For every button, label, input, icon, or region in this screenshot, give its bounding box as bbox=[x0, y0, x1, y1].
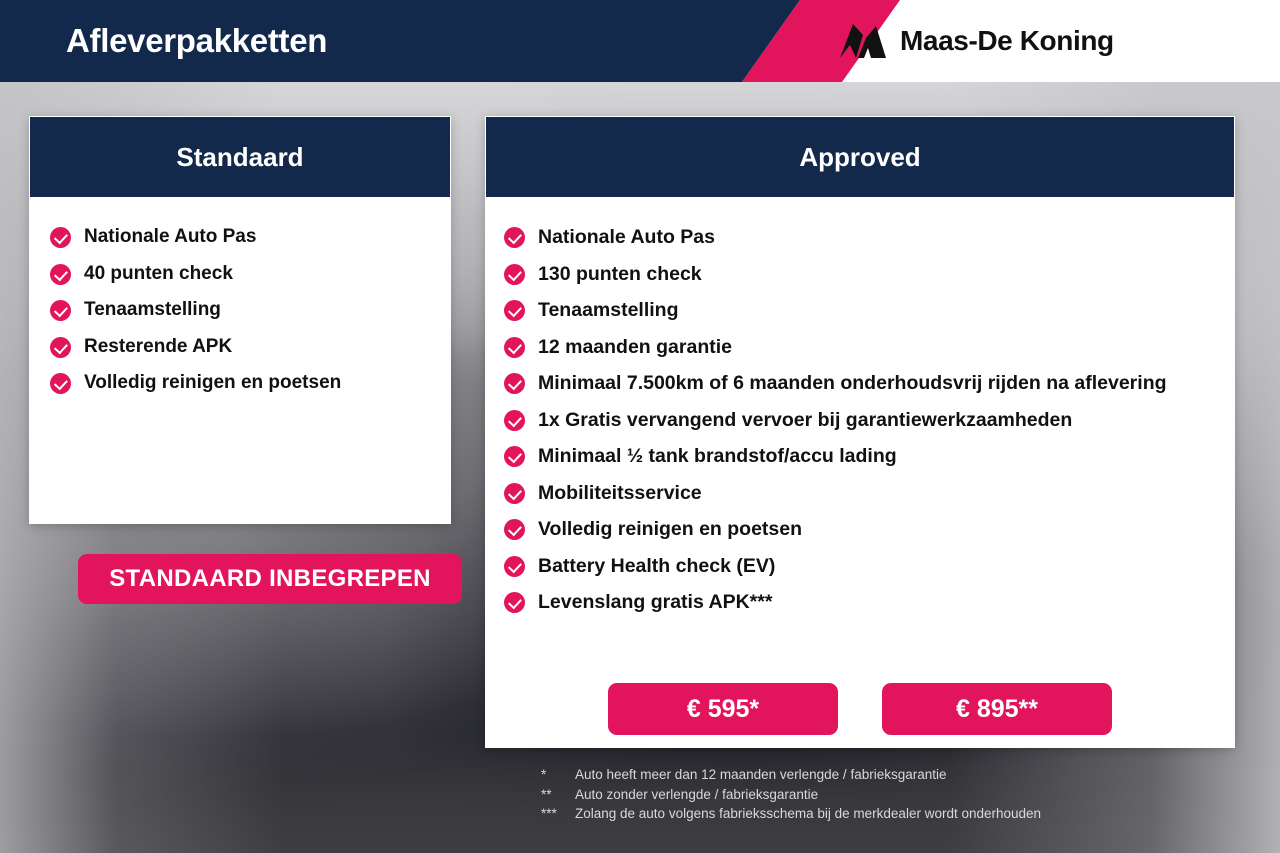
card-title-approved: Approved bbox=[486, 117, 1234, 197]
feature-item: Mobiliteitsservice bbox=[504, 475, 1216, 512]
feature-list-approved: Nationale Auto Pas130 punten checkTenaam… bbox=[504, 219, 1216, 621]
feature-label: Resterende APK bbox=[84, 329, 232, 366]
feature-item: Battery Health check (EV) bbox=[504, 548, 1216, 585]
feature-label: Mobiliteitsservice bbox=[538, 475, 702, 512]
footnote-marker: *** bbox=[541, 804, 575, 824]
check-circle-icon bbox=[50, 264, 71, 285]
page-header: Afleverpakketten Maas-De Koning bbox=[0, 0, 1280, 82]
check-circle-icon bbox=[504, 483, 525, 504]
check-circle-icon bbox=[504, 337, 525, 358]
price-button[interactable]: € 895** bbox=[882, 683, 1112, 735]
feature-item: 1x Gratis vervangend vervoer bij garanti… bbox=[504, 402, 1216, 439]
card-body-approved: Nationale Auto Pas130 punten checkTenaam… bbox=[486, 197, 1234, 621]
footnote-marker: ** bbox=[541, 785, 575, 805]
feature-item: Resterende APK bbox=[50, 329, 430, 366]
card-title-standaard: Standaard bbox=[30, 117, 450, 197]
footnote: **Auto zonder verlengde / fabrieksgarant… bbox=[541, 785, 1241, 805]
feature-item: Volledig reinigen en poetsen bbox=[50, 365, 430, 402]
feature-item: Levenslang gratis APK*** bbox=[504, 584, 1216, 621]
feature-label: Tenaamstelling bbox=[538, 292, 679, 329]
feature-label: 1x Gratis vervangend vervoer bij garanti… bbox=[538, 402, 1072, 439]
feature-item: 12 maanden garantie bbox=[504, 329, 1216, 366]
check-circle-icon bbox=[504, 446, 525, 467]
feature-label: 40 punten check bbox=[84, 256, 233, 293]
brand-logo: Maas-De Koning bbox=[840, 0, 1114, 82]
footnote-marker: * bbox=[541, 765, 575, 785]
feature-item: Tenaamstelling bbox=[504, 292, 1216, 329]
feature-item: Nationale Auto Pas bbox=[50, 219, 430, 256]
feature-label: Tenaamstelling bbox=[84, 292, 221, 329]
feature-label: Minimaal 7.500km of 6 maanden onderhouds… bbox=[538, 365, 1167, 402]
footnote-list: *Auto heeft meer dan 12 maanden verlengd… bbox=[541, 765, 1241, 824]
feature-list-standaard: Nationale Auto Pas40 punten checkTenaams… bbox=[50, 219, 430, 402]
check-circle-icon bbox=[504, 373, 525, 394]
feature-label: Nationale Auto Pas bbox=[538, 219, 715, 256]
footnote: *Auto heeft meer dan 12 maanden verlengd… bbox=[541, 765, 1241, 785]
feature-item: Minimaal 7.500km of 6 maanden onderhouds… bbox=[504, 365, 1216, 402]
price-button-row: € 595*€ 895** bbox=[504, 683, 1216, 735]
feature-label: 12 maanden garantie bbox=[538, 329, 732, 366]
feature-label: Levenslang gratis APK*** bbox=[538, 584, 772, 621]
check-circle-icon bbox=[50, 373, 71, 394]
maas-de-koning-m-logo-icon bbox=[840, 24, 886, 58]
feature-item: Minimaal ½ tank brandstof/accu lading bbox=[504, 438, 1216, 475]
check-circle-icon bbox=[504, 556, 525, 577]
footnote-text: Auto heeft meer dan 12 maanden verlengde… bbox=[575, 765, 1241, 785]
page-title: Afleverpakketten bbox=[66, 0, 327, 82]
feature-item: Nationale Auto Pas bbox=[504, 219, 1216, 256]
feature-label: 130 punten check bbox=[538, 256, 702, 293]
check-circle-icon bbox=[504, 519, 525, 540]
footnote: ***Zolang de auto volgens fabrieksschema… bbox=[541, 804, 1241, 824]
feature-item: 40 punten check bbox=[50, 256, 430, 293]
feature-label: Volledig reinigen en poetsen bbox=[538, 511, 802, 548]
check-circle-icon bbox=[50, 300, 71, 321]
check-circle-icon bbox=[504, 227, 525, 248]
feature-item: 130 punten check bbox=[504, 256, 1216, 293]
check-circle-icon bbox=[504, 410, 525, 431]
card-body-standaard: Nationale Auto Pas40 punten checkTenaams… bbox=[30, 197, 450, 402]
footnote-text: Zolang de auto volgens fabrieksschema bi… bbox=[575, 804, 1241, 824]
check-circle-icon bbox=[504, 592, 525, 613]
brand-name: Maas-De Koning bbox=[900, 25, 1114, 57]
package-card-standaard: Standaard Nationale Auto Pas40 punten ch… bbox=[29, 116, 451, 524]
footnote-text: Auto zonder verlengde / fabrieksgarantie bbox=[575, 785, 1241, 805]
feature-label: Nationale Auto Pas bbox=[84, 219, 256, 256]
standaard-included-button[interactable]: STANDAARD INBEGREPEN bbox=[78, 554, 462, 604]
check-circle-icon bbox=[504, 300, 525, 321]
feature-label: Volledig reinigen en poetsen bbox=[84, 365, 341, 402]
feature-item: Tenaamstelling bbox=[50, 292, 430, 329]
feature-label: Minimaal ½ tank brandstof/accu lading bbox=[538, 438, 897, 475]
check-circle-icon bbox=[504, 264, 525, 285]
package-card-approved: Approved Nationale Auto Pas130 punten ch… bbox=[485, 116, 1235, 748]
check-circle-icon bbox=[50, 227, 71, 248]
check-circle-icon bbox=[50, 337, 71, 358]
feature-item: Volledig reinigen en poetsen bbox=[504, 511, 1216, 548]
feature-label: Battery Health check (EV) bbox=[538, 548, 775, 585]
price-button[interactable]: € 595* bbox=[608, 683, 838, 735]
